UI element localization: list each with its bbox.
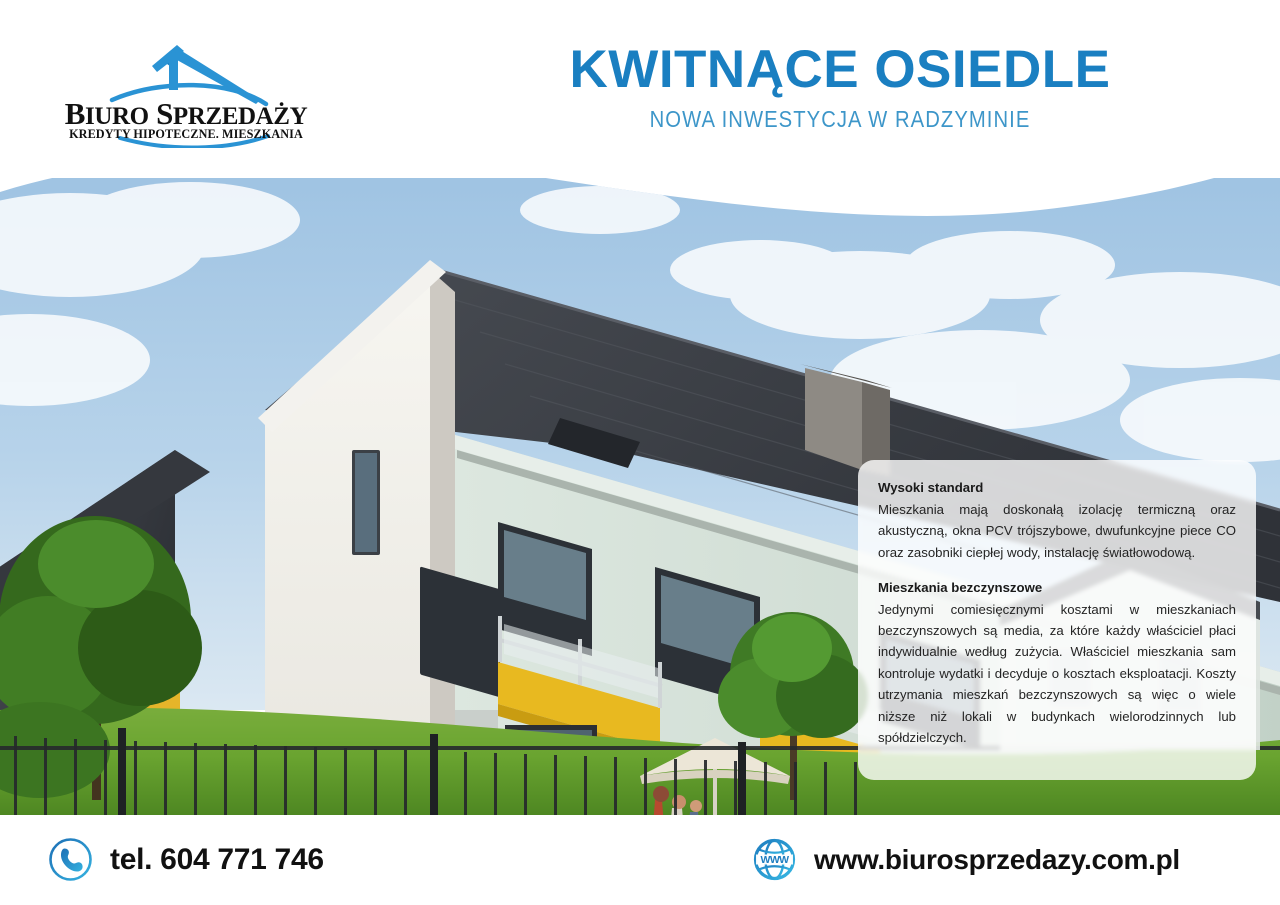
feature-heading: Mieszkania bezczynszowe — [878, 578, 1236, 598]
feature-section-bezczynszowe: Mieszkania bezczynszowe Jedynymi comiesi… — [878, 578, 1236, 748]
feature-section-standard: Wysoki standard Mieszkania mają doskonał… — [878, 478, 1236, 563]
logo-tagline-text: KREDYTY HIPOTECZNE. MIESZKANIA — [69, 127, 303, 141]
phone-icon — [48, 837, 93, 882]
contact-phone[interactable]: tel. 604 771 746 — [48, 837, 324, 882]
page-footer: tel. 604 771 746 WWW www.biurosprzeda — [0, 815, 1280, 905]
feature-heading: Wysoki standard — [878, 478, 1236, 498]
page-header: BIURO SPRZEDAŻY KREDYTY HIPOTECZNE. MIES… — [0, 0, 1280, 178]
features-panel: Wysoki standard Mieszkania mają doskonał… — [858, 460, 1256, 780]
contact-website[interactable]: WWW www.biurosprzedazy.com.pl — [752, 837, 1180, 882]
phone-number: tel. 604 771 746 — [110, 843, 324, 877]
panel-spacer — [878, 563, 1236, 578]
feature-body: Mieszkania mają doskonałą izolację termi… — [878, 499, 1236, 563]
globe-www-icon: WWW — [752, 837, 797, 882]
svg-text:WWW: WWW — [761, 854, 790, 866]
page-title: KWITNĄCE OSIEDLE — [420, 42, 1260, 98]
page-subtitle: NOWA INWESTYCJA W RADZYMINIE — [470, 106, 1209, 133]
logo-arc-top — [112, 85, 266, 104]
logo-title-text: BIURO SPRZEDAŻY — [65, 96, 308, 131]
headline-block: KWITNĄCE OSIEDLE NOWA INWESTYCJA W RADZY… — [420, 42, 1260, 133]
feature-body: Jedynymi comiesięcznymi kosztami w miesz… — [878, 599, 1236, 749]
biuro-sprzedazy-logo[interactable]: BIURO SPRZEDAŻY KREDYTY HIPOTECZNE. MIES… — [60, 26, 312, 148]
website-url: www.biurosprzedazy.com.pl — [814, 844, 1180, 876]
